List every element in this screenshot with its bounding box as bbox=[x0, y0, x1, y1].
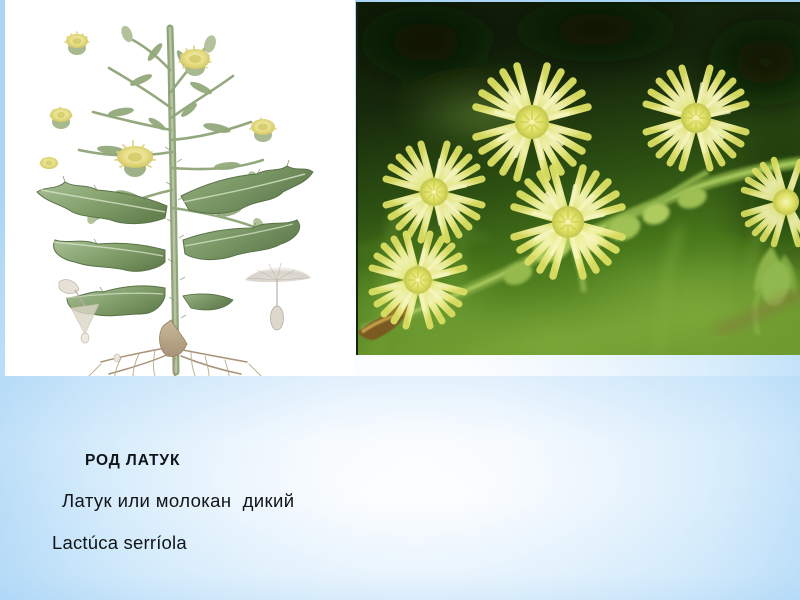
background-sheen bbox=[0, 376, 800, 600]
lactuca-serriola-photograph bbox=[356, 2, 800, 355]
common-name-text: Латук или молокан дикий bbox=[62, 490, 294, 512]
genus-heading: РОД ЛАТУК bbox=[85, 452, 180, 470]
lactuca-photo-frame bbox=[356, 2, 800, 355]
slide-canvas: РОД ЛАТУК Латук или молокан дикий Lactúc… bbox=[0, 0, 800, 600]
latin-name-text: Lactúca serríola bbox=[52, 532, 187, 554]
media-band bbox=[0, 0, 800, 376]
botanical-illustration-panel bbox=[5, 0, 355, 376]
botanical-illustration-image bbox=[5, 0, 355, 376]
